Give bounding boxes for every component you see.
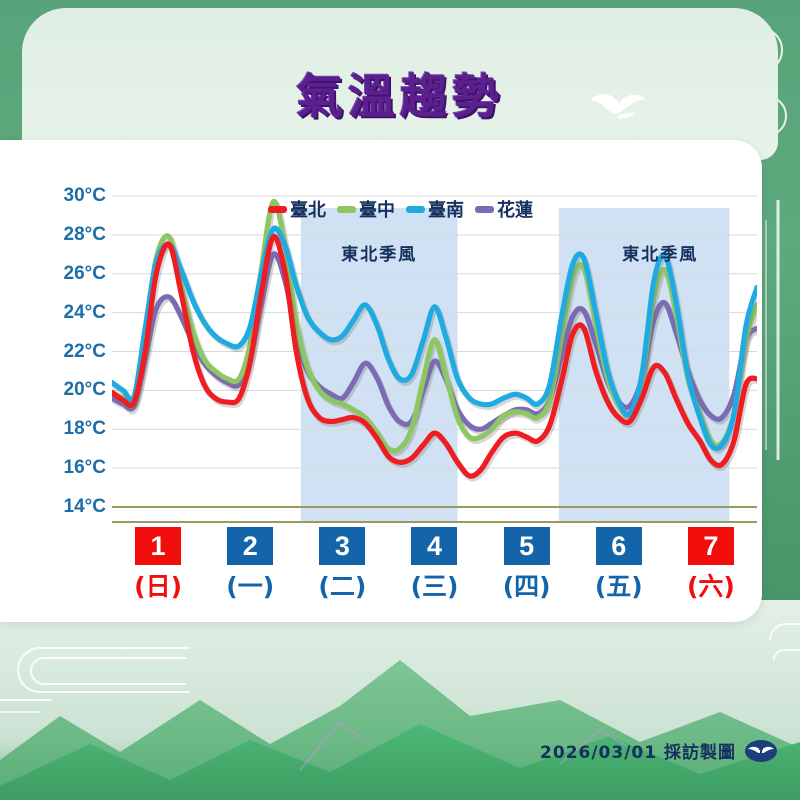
day-number-badge: 2 (227, 527, 273, 565)
legend-item-tainan[interactable]: 臺南 (406, 196, 464, 222)
day-column-1[interactable]: 1(日) (112, 527, 204, 607)
legend-item-taichung[interactable]: 臺中 (337, 196, 395, 222)
day-weekday-label: (二) (318, 567, 366, 603)
day-number-badge: 7 (688, 527, 734, 565)
day-number-badge: 3 (319, 527, 365, 565)
day-weekday-label: (四) (503, 567, 551, 603)
legend-swatch-icon (406, 206, 425, 213)
day-number-badge: 4 (411, 527, 457, 565)
footer-credit: 2026/03/01 採訪製圖 (540, 738, 736, 763)
day-column-5[interactable]: 5(四) (481, 527, 573, 607)
legend-swatch-icon (268, 206, 287, 213)
day-column-4[interactable]: 4(三) (388, 527, 480, 607)
legend-swatch-icon (475, 206, 494, 213)
cwa-logo (744, 739, 778, 763)
chart-legend: 臺北臺中臺南花蓮 (268, 196, 533, 222)
legend-item-taipei[interactable]: 臺北 (268, 196, 326, 222)
page-title: 氣溫趨勢 (0, 58, 800, 127)
chart-svg (112, 188, 757, 523)
y-axis-tick-label: 24°C (36, 302, 106, 324)
y-axis-tick-label: 28°C (36, 224, 106, 246)
day-axis: 1(日)2(一)3(二)4(三)5(四)6(五)7(六) (112, 527, 757, 607)
y-axis-tick-label: 22°C (36, 341, 106, 363)
day-weekday-label: (三) (411, 567, 459, 603)
day-weekday-label: (一) (226, 567, 274, 603)
y-axis-tick-label: 16°C (36, 457, 106, 479)
day-number-badge: 5 (504, 527, 550, 565)
day-number-badge: 6 (596, 527, 642, 565)
seagull-icon (588, 88, 648, 124)
y-axis-tick-label: 18°C (36, 418, 106, 440)
footer: 2026/03/01 採訪製圖 (0, 738, 778, 763)
day-weekday-label: (日) (134, 567, 182, 603)
y-axis: 30°C28°C26°C24°C22°C20°C18°C16°C14°C (36, 188, 106, 523)
chart-plot-area (112, 188, 757, 523)
y-axis-tick-label: 30°C (36, 185, 106, 207)
legend-swatch-icon (337, 206, 356, 213)
day-column-3[interactable]: 3(二) (296, 527, 388, 607)
weather-infographic: 氣溫趨勢 30°C28°C26°C24°C22°C20°C18°C16°C14°… (0, 0, 800, 800)
y-axis-tick-label: 20°C (36, 379, 106, 401)
day-column-7[interactable]: 7(六) (665, 527, 757, 607)
legend-label: 花蓮 (497, 196, 533, 222)
monsoon-label-1: 東北季風 (341, 240, 417, 265)
legend-label: 臺北 (290, 196, 326, 222)
legend-item-hualien[interactable]: 花蓮 (475, 196, 533, 222)
y-axis-tick-label: 14°C (36, 496, 106, 518)
day-weekday-label: (六) (687, 567, 735, 603)
day-weekday-label: (五) (595, 567, 643, 603)
y-axis-tick-label: 26°C (36, 263, 106, 285)
day-column-6[interactable]: 6(五) (573, 527, 665, 607)
monsoon-label-2: 東北季風 (622, 240, 698, 265)
day-number-badge: 1 (135, 527, 181, 565)
legend-label: 臺中 (359, 196, 395, 222)
legend-label: 臺南 (428, 196, 464, 222)
day-column-2[interactable]: 2(一) (204, 527, 296, 607)
